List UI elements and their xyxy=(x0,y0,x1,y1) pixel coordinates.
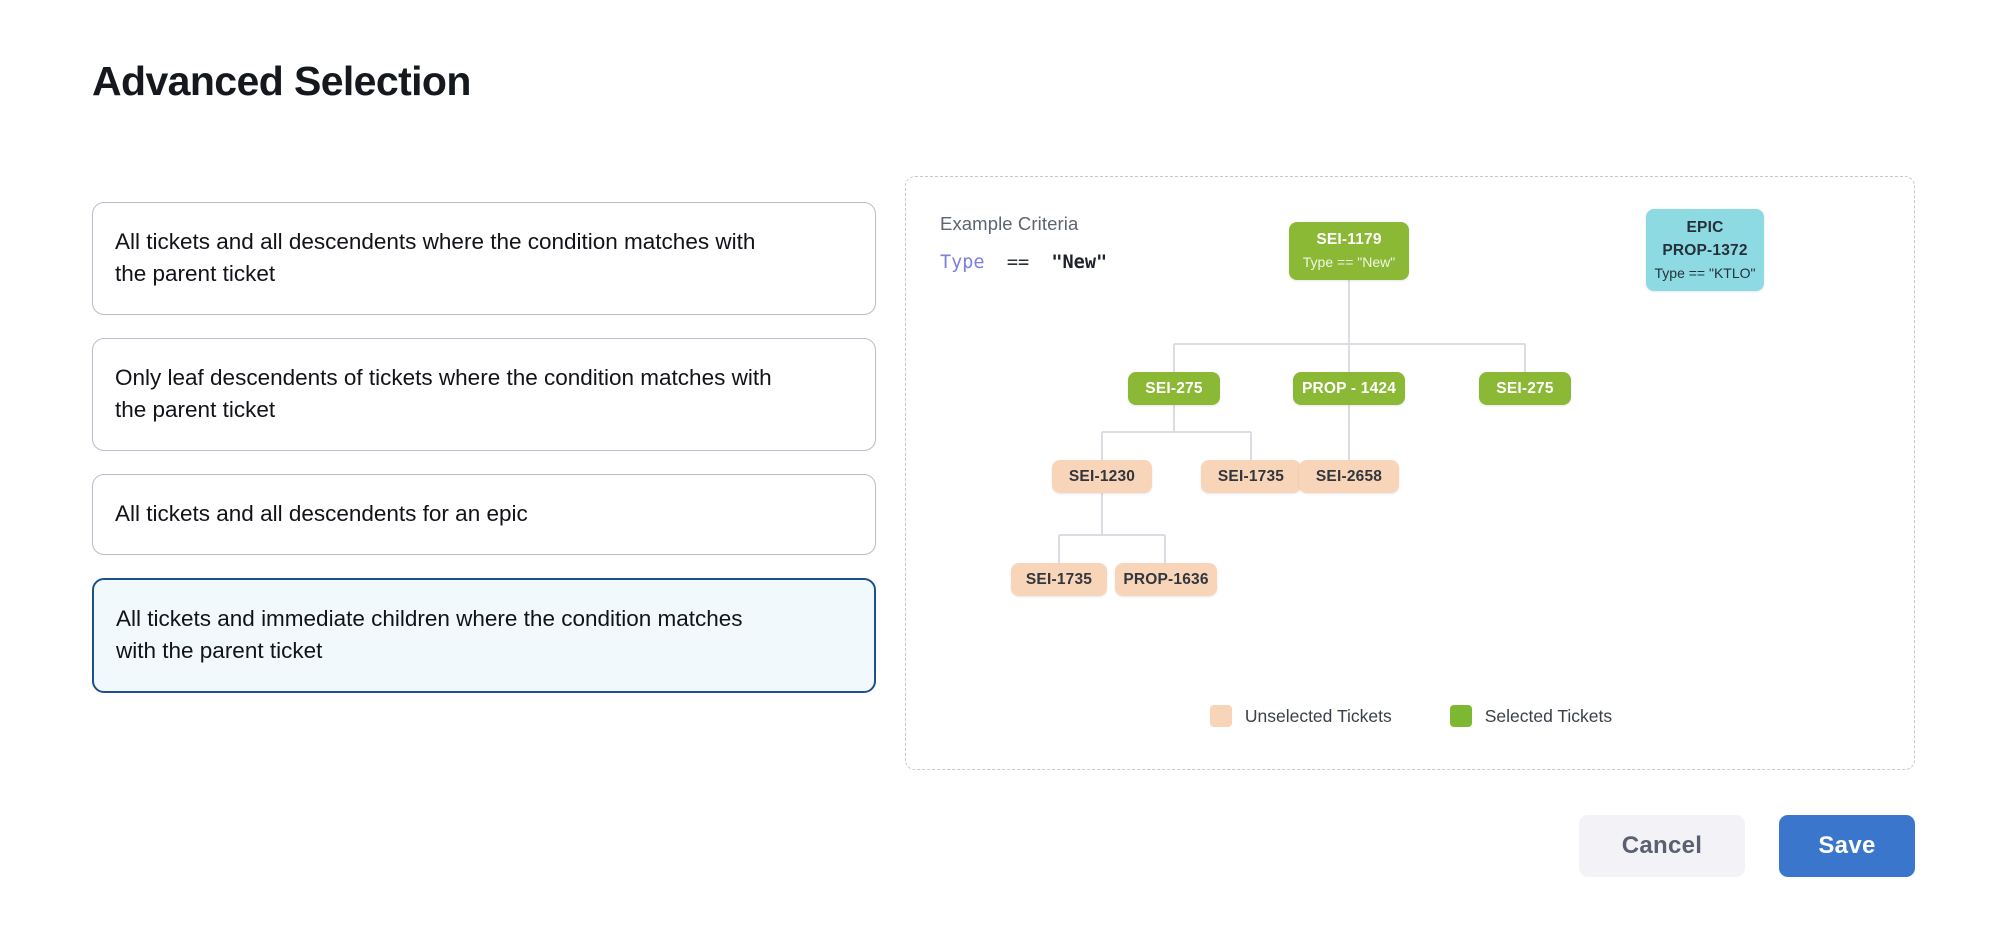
node-title: PROP-1636 xyxy=(1123,568,1208,591)
tree-node-sei-2658[interactable]: SEI-2658 xyxy=(1299,460,1399,493)
option-label: All tickets and immediate children where… xyxy=(116,603,776,667)
cancel-button[interactable]: Cancel xyxy=(1579,815,1745,877)
option-card-all-descendents-condition[interactable]: All tickets and all descendents where th… xyxy=(92,202,876,315)
option-card-leaf-descendents-condition[interactable]: Only leaf descendents of tickets where t… xyxy=(92,338,876,451)
option-card-immediate-children-condition[interactable]: All tickets and immediate children where… xyxy=(92,578,876,693)
selection-options-list: All tickets and all descendents where th… xyxy=(92,202,876,693)
option-label: Only leaf descendents of tickets where t… xyxy=(115,362,775,426)
page-title: Advanced Selection xyxy=(92,58,471,105)
node-key: PROP-1372 xyxy=(1662,239,1747,262)
node-title: PROP - 1424 xyxy=(1302,377,1396,400)
option-label: All tickets and all descendents for an e… xyxy=(115,498,528,530)
option-label: All tickets and all descendents where th… xyxy=(115,226,775,290)
criteria-label: Example Criteria xyxy=(940,213,1107,235)
node-title: SEI-275 xyxy=(1496,377,1553,400)
tree-node-sei-1230[interactable]: SEI-1230 xyxy=(1052,460,1152,493)
node-title: SEI-1735 xyxy=(1218,465,1284,488)
save-button[interactable]: Save xyxy=(1779,815,1915,877)
example-diagram-panel: Example Criteria Type == "New" xyxy=(905,176,1915,770)
node-title: SEI-1230 xyxy=(1069,465,1135,488)
legend-label: Selected Tickets xyxy=(1485,706,1612,727)
option-card-all-descendents-epic[interactable]: All tickets and all descendents for an e… xyxy=(92,474,876,555)
criteria-field: Type xyxy=(940,252,985,273)
tree-node-sei-1735-leaf[interactable]: SEI-1735 xyxy=(1011,563,1107,596)
dialog-footer: Cancel Save xyxy=(1579,815,1915,877)
node-title: SEI-275 xyxy=(1145,377,1202,400)
node-subtitle: Type == "New" xyxy=(1303,251,1395,273)
legend-item-unselected: Unselected Tickets xyxy=(1210,705,1392,727)
tree-node-sei-1179[interactable]: SEI-1179 Type == "New" xyxy=(1289,222,1409,280)
legend-swatch-selected-icon xyxy=(1450,705,1472,727)
tree-node-sei-275-right[interactable]: SEI-275 xyxy=(1479,372,1571,405)
criteria-block: Example Criteria Type == "New" xyxy=(940,213,1107,273)
tree-node-sei-275-left[interactable]: SEI-275 xyxy=(1128,372,1220,405)
tree-node-prop-1636[interactable]: PROP-1636 xyxy=(1115,563,1217,596)
node-subtitle: Type == "KTLO" xyxy=(1655,262,1756,284)
legend-label: Unselected Tickets xyxy=(1245,706,1392,727)
criteria-operator: == xyxy=(1007,252,1029,273)
node-title: SEI-1735 xyxy=(1026,568,1092,591)
tree-node-epic-prop-1372[interactable]: EPIC PROP-1372 Type == "KTLO" xyxy=(1646,209,1764,291)
tree-node-sei-1735-mid[interactable]: SEI-1735 xyxy=(1201,460,1301,493)
node-title: SEI-1179 xyxy=(1316,228,1381,251)
criteria-value: "New" xyxy=(1051,252,1107,273)
tree-node-prop-1424[interactable]: PROP - 1424 xyxy=(1293,372,1405,405)
node-title: EPIC xyxy=(1687,216,1724,239)
criteria-expression: Type == "New" xyxy=(940,252,1107,273)
diagram-legend: Unselected Tickets Selected Tickets xyxy=(906,705,1916,727)
legend-item-selected: Selected Tickets xyxy=(1450,705,1612,727)
node-title: SEI-2658 xyxy=(1316,465,1382,488)
advanced-selection-dialog: Advanced Selection All tickets and all d… xyxy=(0,0,1994,934)
legend-swatch-unselected-icon xyxy=(1210,705,1232,727)
